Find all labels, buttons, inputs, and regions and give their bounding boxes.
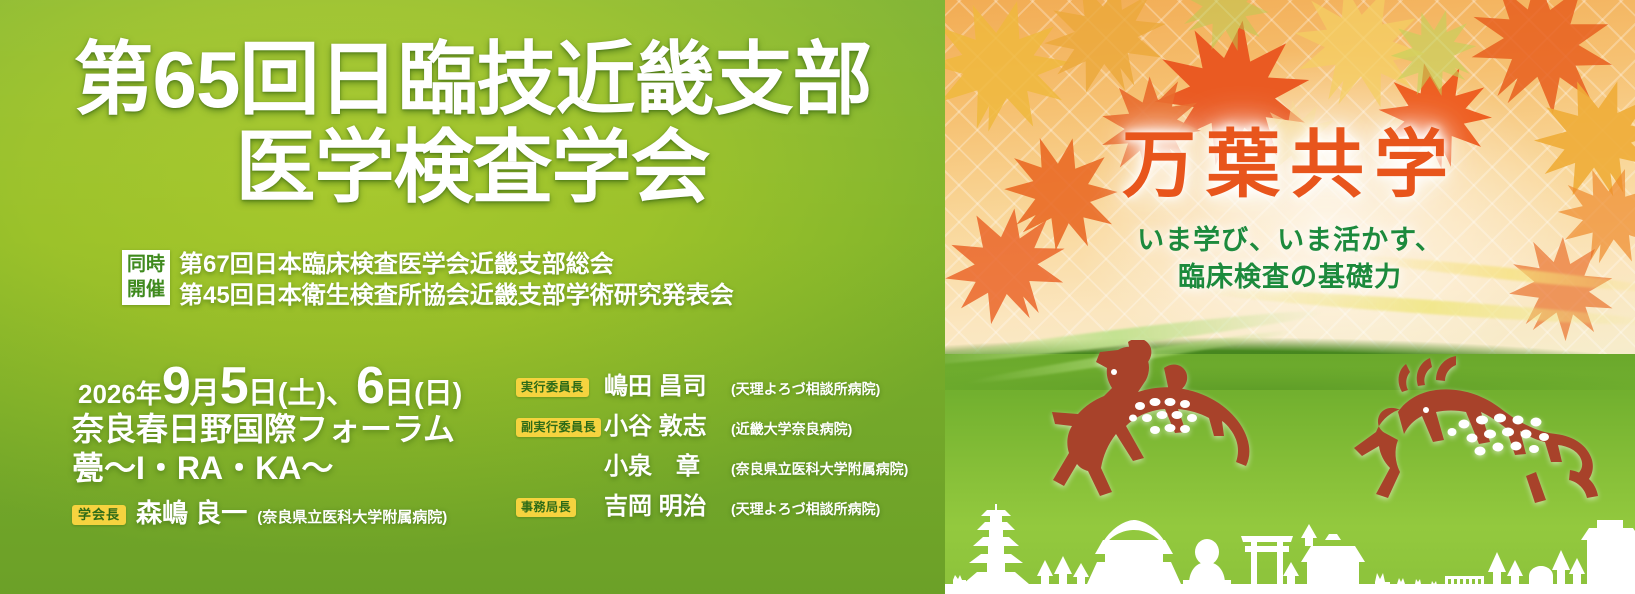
- tree-icon: [1507, 560, 1523, 584]
- buddha-statue-icon: [1183, 539, 1231, 584]
- title-line-2: 医学検査学会: [0, 128, 945, 208]
- committee-row: 副実行委員長 小谷 敦志 (近畿大学奈良病院): [516, 406, 908, 441]
- committee-name: 嶋田 昌司: [604, 366, 722, 401]
- concurrent-badge: 同時 開催: [122, 250, 170, 305]
- page-title: 第65回日臨技近畿支部 医学検査学会: [0, 40, 945, 208]
- committee-badge: 副実行委員長: [516, 418, 601, 437]
- castle-icon: [1581, 520, 1635, 584]
- venue-block: 奈良春日野国際フォーラム 甍〜I・RA・KA〜: [72, 410, 455, 489]
- title-line-1: 第65回日臨技近畿支部: [0, 40, 945, 120]
- theme-subtitle-line-1: いま学び、いま活かす、: [945, 222, 1635, 259]
- tree-icon: [1488, 552, 1506, 584]
- date-day-1-weekday: (土): [278, 378, 326, 410]
- venue-line-1: 奈良春日野国際フォーラム: [72, 410, 455, 449]
- right-illustration-panel: 万葉共学 いま学び、いま活かす、 臨床検査の基礎力: [945, 0, 1635, 594]
- concurrent-event-2: 第45回日本衛生検査所協会近畿支部学術研究発表会: [179, 281, 734, 312]
- theme-subtitle: いま学び、いま活かす、 臨床検査の基礎力: [945, 222, 1635, 297]
- theme-main-title: 万葉共学: [945, 128, 1635, 202]
- torii-gate-icon: [1241, 536, 1293, 584]
- theme-block: 万葉共学 いま学び、いま活かす、 臨床検査の基礎力: [945, 128, 1635, 297]
- date-day-1: 5: [220, 357, 248, 415]
- concurrent-events-block: 同時 開催 第67回日本臨床検査医学会近畿支部総会 第45回日本衛生検査所協会近…: [122, 250, 734, 311]
- left-info-panel: 第65回日臨技近畿支部 医学検査学会 同時 開催 第67回日本臨床検査医学会近畿…: [0, 0, 945, 594]
- committee-affiliation: (天理よろづ相談所病院): [731, 499, 880, 519]
- date-month: 9: [162, 357, 190, 415]
- date-day-1-unit: 日: [248, 377, 278, 410]
- concurrent-badge-line-2: 開催: [127, 277, 165, 302]
- conference-poster: 第65回日臨技近畿支部 医学検査学会 同時 開催 第67回日本臨床検査医学会近畿…: [0, 0, 1635, 594]
- concurrent-badge-line-1: 同時: [127, 252, 165, 277]
- date-separator: 、: [326, 377, 356, 410]
- date-day-2: 6: [356, 357, 384, 415]
- tree-icon: [1569, 558, 1585, 584]
- committee-badge: 実行委員長: [516, 378, 589, 397]
- tree-icon: [1283, 562, 1299, 584]
- pagoda-icon: [963, 504, 1029, 584]
- tree-icon: [1301, 524, 1317, 546]
- committee-affiliation: (奈良県立医科大学附属病院): [731, 459, 908, 479]
- date-year: 2026年: [78, 379, 162, 409]
- committee-list: 実行委員長 嶋田 昌司 (天理よろづ相談所病院) 副実行委員長 小谷 敦志 (近…: [516, 366, 908, 521]
- committee-row: 実行委員長 嶋田 昌司 (天理よろづ相談所病院): [516, 366, 908, 401]
- nara-skyline-silhouette: [945, 484, 1635, 594]
- committee-name: 吉岡 明治: [604, 486, 722, 521]
- committee-row: 事務局長 吉岡 明治 (天理よろづ相談所病院): [516, 486, 908, 521]
- date-month-unit: 月: [190, 377, 220, 410]
- chair-badge: 学会長: [72, 505, 126, 525]
- chair-affiliation: (奈良県立医科大学附属病院): [257, 506, 447, 527]
- tree-icon: [1037, 560, 1053, 584]
- chair-row: 学会長 森嶋 良一 (奈良県立医科大学附属病院): [72, 493, 447, 530]
- committee-badge: 事務局長: [516, 498, 576, 517]
- event-date: 2026年9月5日(土)、6日(日): [78, 356, 462, 416]
- concurrent-event-list: 第67回日本臨床検査医学会近畿支部総会 第45回日本衛生検査所協会近畿支部学術研…: [179, 250, 734, 311]
- chair-name: 森嶋 良一: [136, 493, 247, 530]
- date-day-2-weekday: (日): [414, 378, 462, 410]
- temple-hall-icon: [1087, 520, 1181, 584]
- committee-row: 小泉 章 (奈良県立医科大学附属病院): [516, 446, 908, 481]
- committee-affiliation: (近畿大学奈良病院): [731, 419, 852, 439]
- concurrent-event-1: 第67回日本臨床検査医学会近畿支部総会: [179, 250, 734, 281]
- mound-icon: [1529, 566, 1553, 584]
- tree-icon: [1073, 563, 1089, 584]
- committee-affiliation: (天理よろづ相談所病院): [731, 379, 880, 399]
- tree-icon: [1054, 556, 1072, 584]
- committee-name: 小谷 敦志: [604, 406, 722, 441]
- date-day-2-unit: 日: [384, 377, 414, 410]
- committee-name: 小泉 章: [604, 446, 722, 481]
- venue-line-2: 甍〜I・RA・KA〜: [72, 449, 455, 488]
- theme-subtitle-line-2: 臨床検査の基礎力: [945, 259, 1635, 296]
- tree-icon: [1552, 550, 1570, 584]
